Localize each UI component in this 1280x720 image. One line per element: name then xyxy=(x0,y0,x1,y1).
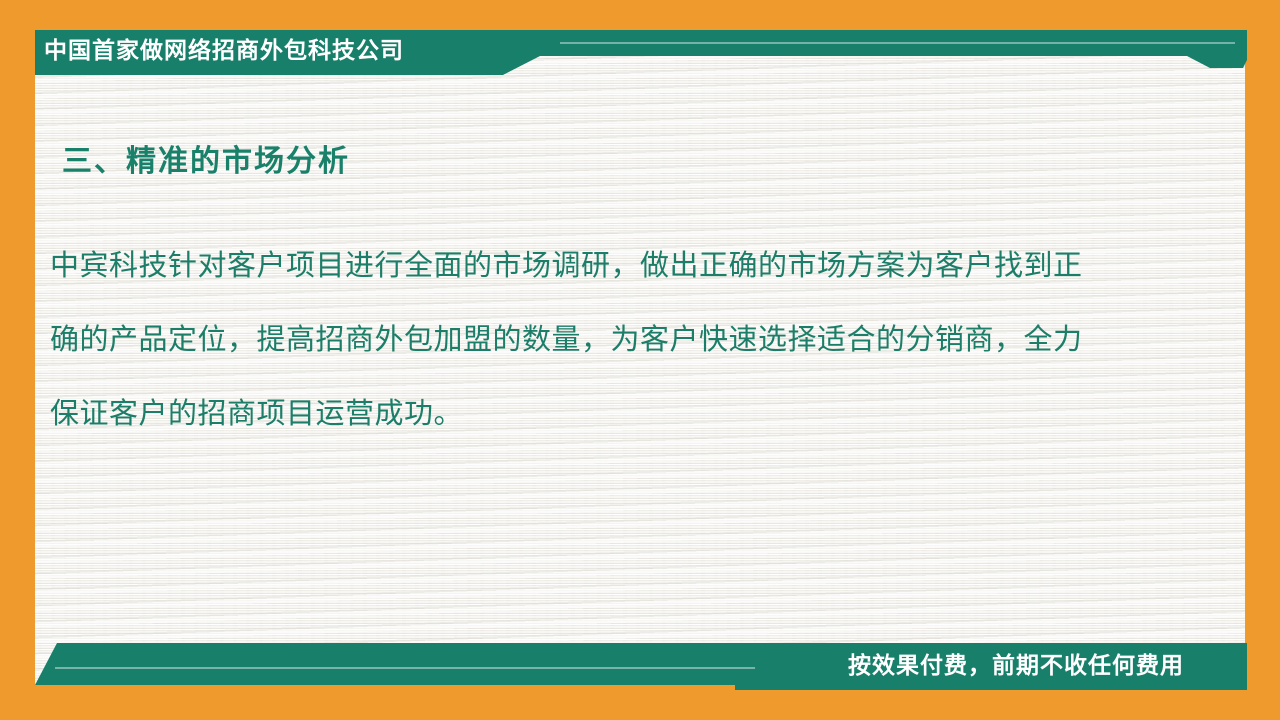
presentation-slide: 中国首家做网络招商外包科技公司 三、精准的市场分析 中宾科技针对客户项目进行全面… xyxy=(0,0,1280,720)
section-heading: 三、精准的市场分析 xyxy=(62,136,350,180)
body-paragraph: 中宾科技针对客户项目进行全面的市场调研，做出正确的市场方案为客户找到正 确的产品… xyxy=(50,228,1180,450)
footer-slogan: 按效果付费，前期不收任何费用 xyxy=(848,650,1184,682)
paragraph-line-1: 中宾科技针对客户项目进行全面的市场调研，做出正确的市场方案为客户找到正 xyxy=(50,228,1180,302)
paragraph-line-3: 保证客户的招商项目运营成功。 xyxy=(50,376,1180,450)
header-title: 中国首家做网络招商外包科技公司 xyxy=(44,33,404,69)
paragraph-line-2: 确的产品定位，提高招商外包加盟的数量，为客户快速选择适合的分销商，全力 xyxy=(50,302,1180,376)
header-hairline-divider xyxy=(560,42,1235,44)
footer-hairline-divider xyxy=(55,667,755,669)
